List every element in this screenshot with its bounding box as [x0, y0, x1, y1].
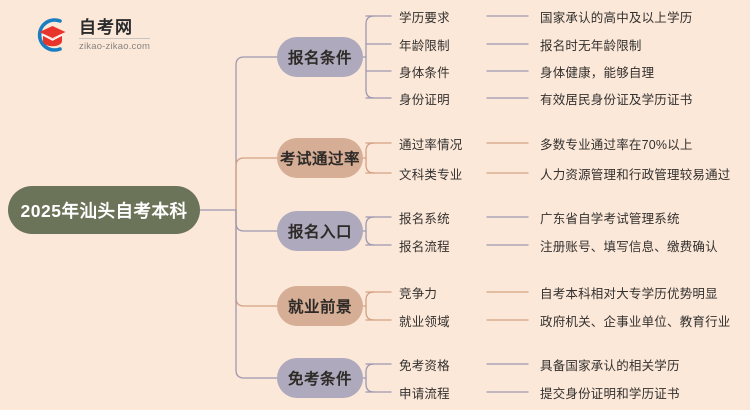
mindmap-branch-node-2[interactable]: 考试通过率 [277, 138, 363, 178]
mindmap-leaf-detail-2-2: 人力资源管理和行政管理较易通过 [540, 164, 731, 183]
mindmap-sub-label-4-2[interactable]: 就业领域 [399, 311, 450, 330]
mindmap-branch-node-5[interactable]: 免考条件 [277, 358, 363, 398]
graduation-cap-logo-icon [30, 14, 72, 56]
mindmap-sub-label-3-1[interactable]: 报名系统 [399, 208, 450, 227]
mindmap-sub-label-4-1[interactable]: 竞争力 [399, 283, 437, 302]
mindmap-branch-node-3[interactable]: 报名入口 [277, 211, 363, 251]
mindmap-leaf-detail-4-2: 政府机关、企事业单位、教育行业 [540, 311, 731, 330]
mindmap-canvas: 自考网 zikao-zikao.com 2025年汕头自考本科 报名条件学历要求… [0, 0, 750, 410]
mindmap-sub-label-1-3[interactable]: 身体条件 [399, 62, 450, 81]
mindmap-sub-label-1-4[interactable]: 身份证明 [399, 89, 450, 108]
mindmap-sub-label-3-2[interactable]: 报名流程 [399, 236, 450, 255]
mindmap-leaf-detail-1-1: 国家承认的高中及以上学历 [540, 7, 692, 26]
mindmap-leaf-detail-4-1: 自考本科相对大专学历优势明显 [540, 283, 718, 302]
mindmap-leaf-detail-1-3: 身体健康，能够自理 [540, 62, 654, 81]
mindmap-leaf-detail-2-1: 多数专业通过率在70%以上 [540, 134, 693, 153]
mindmap-leaf-detail-3-1: 广东省自学考试管理系统 [540, 208, 680, 227]
mindmap-leaf-detail-1-2: 报名时无年龄限制 [540, 35, 642, 54]
mindmap-sub-label-1-1[interactable]: 学历要求 [399, 7, 450, 26]
mindmap-sub-label-1-2[interactable]: 年龄限制 [399, 35, 450, 54]
mindmap-leaf-detail-1-4: 有效居民身份证及学历证书 [540, 89, 692, 108]
mindmap-leaf-detail-5-2: 提交身份证明和学历证书 [540, 383, 680, 402]
mindmap-sub-label-5-2[interactable]: 申请流程 [399, 383, 450, 402]
mindmap-sub-label-5-1[interactable]: 免考资格 [399, 355, 450, 374]
mindmap-sub-label-2-1[interactable]: 通过率情况 [399, 134, 463, 153]
logo-url: zikao-zikao.com [79, 39, 150, 52]
mindmap-leaf-detail-3-2: 注册账号、填写信息、缴费确认 [540, 236, 718, 255]
mindmap-branch-node-1[interactable]: 报名条件 [277, 37, 363, 77]
mindmap-sub-label-2-2[interactable]: 文科类专业 [399, 164, 463, 183]
mindmap-branch-node-4[interactable]: 就业前景 [277, 286, 363, 326]
site-logo: 自考网 zikao-zikao.com [30, 14, 150, 56]
logo-name: 自考网 [79, 19, 150, 39]
mindmap-leaf-detail-5-1: 具备国家承认的相关学历 [540, 355, 680, 374]
mindmap-root-node[interactable]: 2025年汕头自考本科 [8, 186, 200, 234]
